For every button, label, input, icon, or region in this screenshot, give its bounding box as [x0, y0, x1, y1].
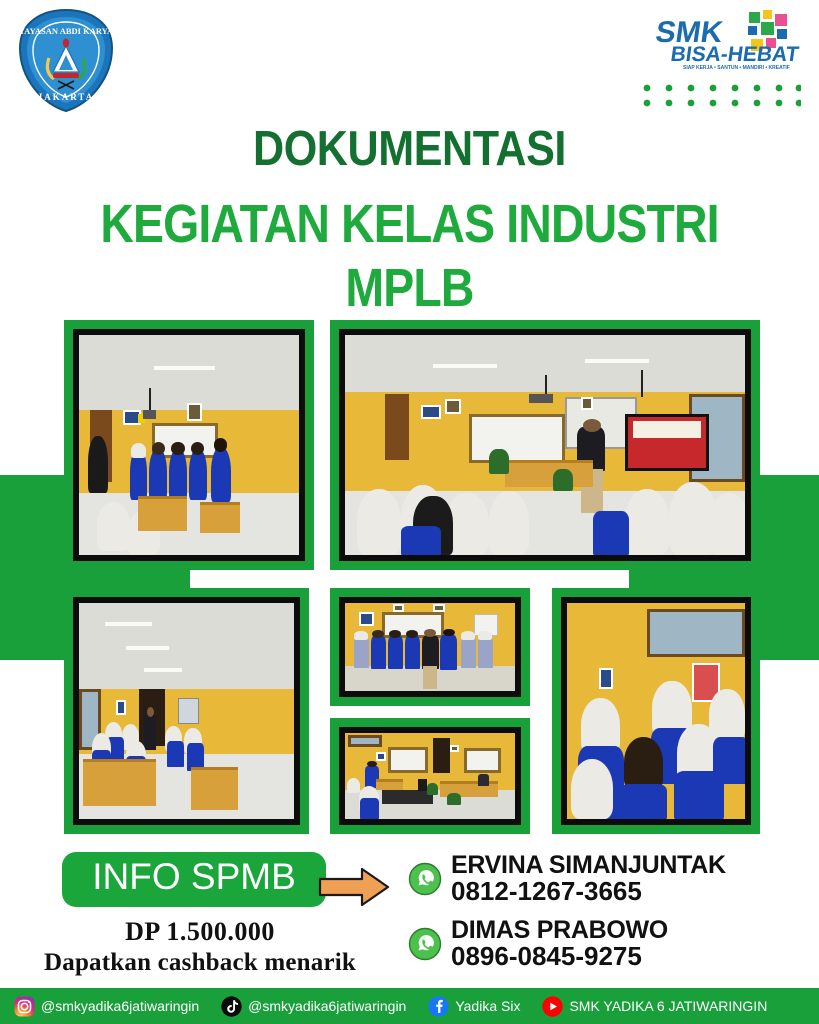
arrow-right-icon	[318, 866, 390, 908]
yayasan-logo-top-text: YAYASAN ABDI KARYA	[19, 26, 114, 36]
contact-row[interactable]: ERVINA SIMANJUNTAK 0812-1267-3665	[408, 852, 808, 905]
contact-number[interactable]: 0896-0845-9275	[451, 943, 668, 970]
dp-amount-text: DP 1.500.000	[0, 917, 400, 947]
tiktok-icon	[221, 996, 242, 1017]
photo-gallery	[0, 320, 819, 840]
social-label: @smkyadika6jatiwaringin	[248, 998, 406, 1014]
photo-speaker-presenting-with-screen[interactable]	[330, 320, 760, 570]
social-tiktok[interactable]: @smkyadika6jatiwaringin	[221, 996, 406, 1017]
social-instagram[interactable]: @smkyadika6jatiwaringin	[14, 996, 199, 1017]
photo-classroom-audience-wide[interactable]	[64, 588, 309, 834]
instagram-icon	[14, 996, 35, 1017]
social-label: SMK YADIKA 6 JATIWARINGIN	[569, 998, 767, 1014]
title-block: DOKUMENTASI KEGIATAN KELAS INDUSTRI MPLB	[0, 122, 819, 320]
smk-logo-line2: BISA-HEBAT	[669, 43, 800, 66]
smk-bisa-hebat-logo-icon: SMK BISA-HEBAT SIAP KERJA • SANTUN • MAN…	[651, 10, 801, 72]
photo-students-seated-closeup[interactable]	[552, 588, 760, 834]
header: YAYASAN ABDI KARYA JAKARTA SMK BISA-HEBA…	[0, 0, 819, 120]
social-label: @smkyadika6jatiwaringin	[41, 998, 199, 1014]
page-title-line1: DOKUMENTASI	[49, 122, 770, 177]
dot-grid-decoration-icon	[641, 82, 801, 108]
social-label: Yadika Six	[455, 998, 520, 1014]
contact-block: ERVINA SIMANJUNTAK 0812-1267-3665 DIMAS …	[408, 852, 808, 977]
social-youtube[interactable]: SMK YADIKA 6 JATIWARINGIN	[542, 996, 767, 1017]
whatsapp-icon	[408, 862, 442, 896]
contact-number[interactable]: 0812-1267-3665	[451, 878, 726, 905]
photo-classroom-discussion[interactable]	[330, 718, 530, 834]
youtube-icon	[542, 996, 563, 1017]
social-facebook[interactable]: Yadika Six	[428, 996, 520, 1017]
smk-logo-tagline: SIAP KERJA • SANTUN • MANDIRI • KREATIF	[683, 65, 790, 71]
whatsapp-icon	[408, 927, 442, 961]
cashback-text: Dapatkan cashback menarik	[0, 949, 400, 977]
social-footer: @smkyadika6jatiwaringin @smkyadika6jatiw…	[0, 988, 819, 1024]
contact-row[interactable]: DIMAS PRABOWO 0896-0845-9275	[408, 917, 808, 970]
yayasan-abdi-karya-logo-icon: YAYASAN ABDI KARYA JAKARTA	[16, 8, 116, 113]
page-title-line2: KEGIATAN KELAS INDUSTRI MPLB	[57, 193, 761, 320]
facebook-icon	[428, 996, 449, 1017]
contact-name: DIMAS PRABOWO	[451, 917, 668, 943]
photo-group-photo-with-teacher[interactable]	[330, 588, 530, 706]
photo-students-lineup-front-class[interactable]	[64, 320, 314, 570]
info-spmb-button[interactable]: INFO SPMB	[62, 852, 326, 907]
contact-name: ERVINA SIMANJUNTAK	[451, 852, 726, 878]
yayasan-logo-bottom-text: JAKARTA	[38, 92, 95, 102]
